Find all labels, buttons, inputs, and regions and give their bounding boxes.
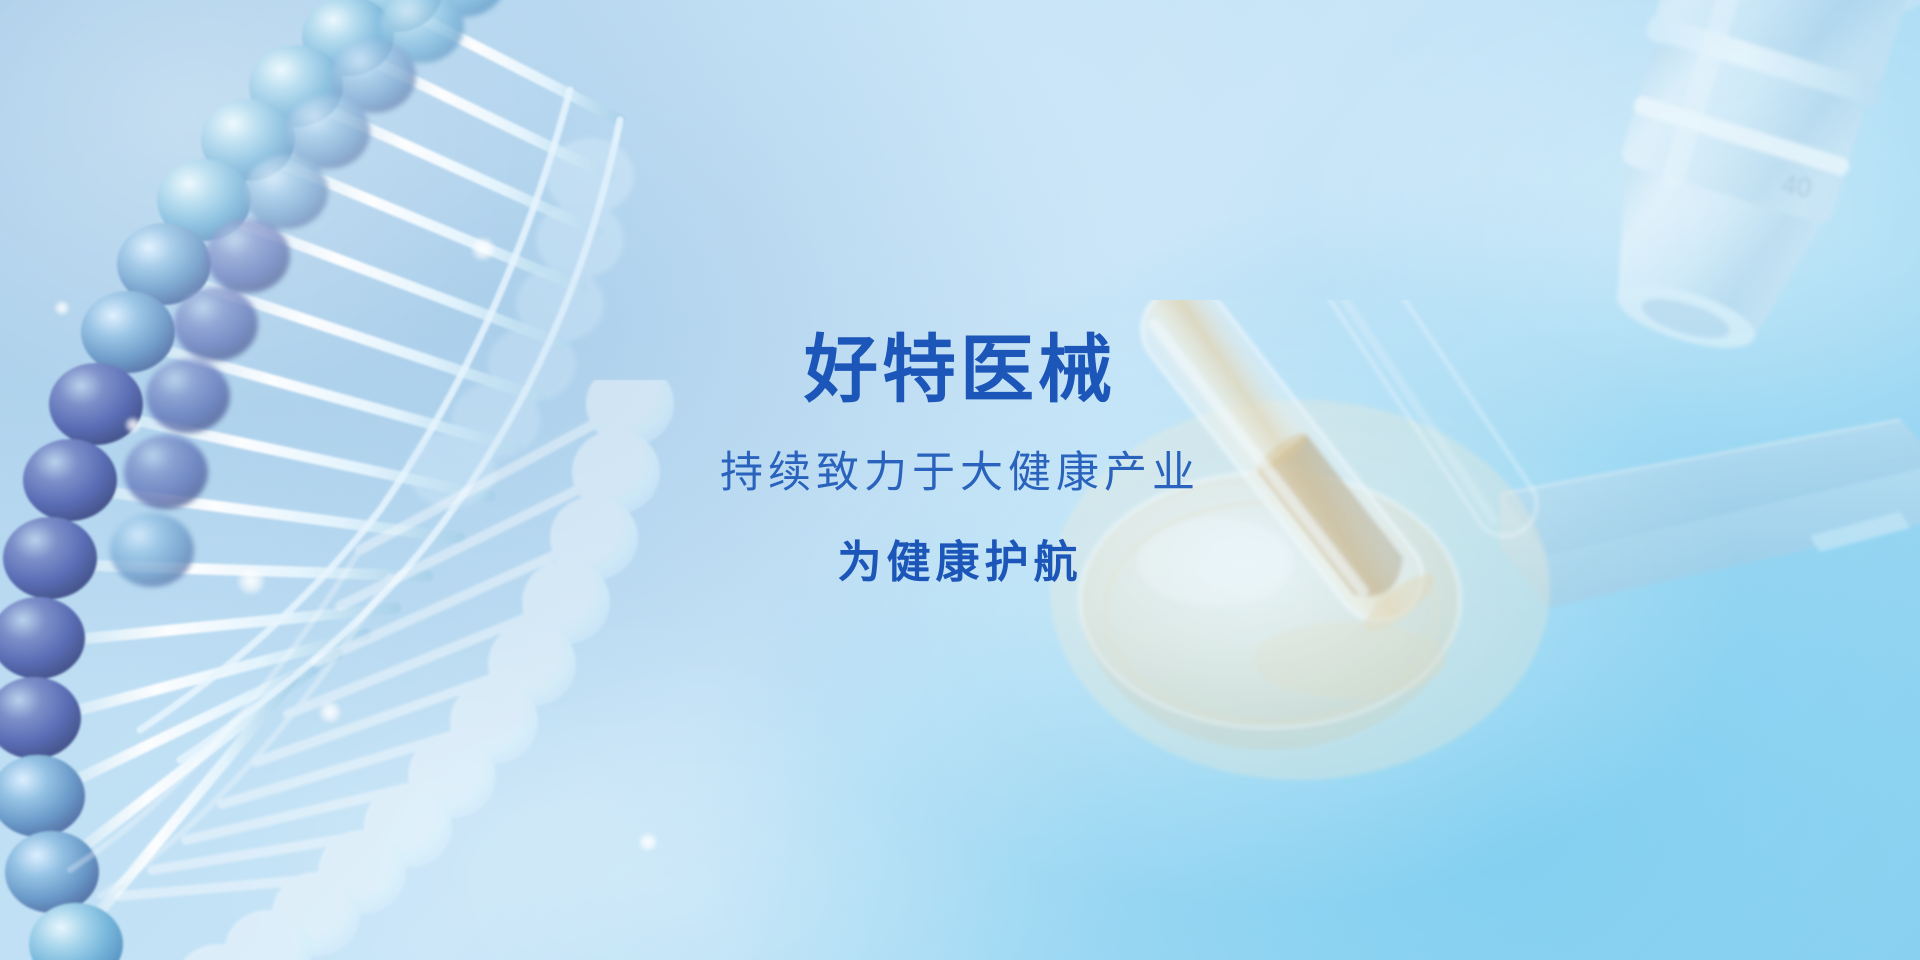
bokeh-dot	[638, 832, 658, 852]
microscope-magnification-label: 40	[1779, 169, 1813, 203]
hero-subtitle: 持续致力于大健康产业	[0, 450, 1920, 497]
page-title: 好特医械	[0, 330, 1920, 410]
bokeh-dot	[54, 300, 70, 316]
hero-banner: 40	[0, 0, 1920, 960]
hero-text-block: 好特医械 持续致力于大健康产业 为健康护航	[0, 330, 1920, 588]
bokeh-dot	[318, 700, 342, 724]
hero-tagline: 为健康护航	[0, 539, 1920, 587]
bokeh-dot	[470, 236, 496, 262]
